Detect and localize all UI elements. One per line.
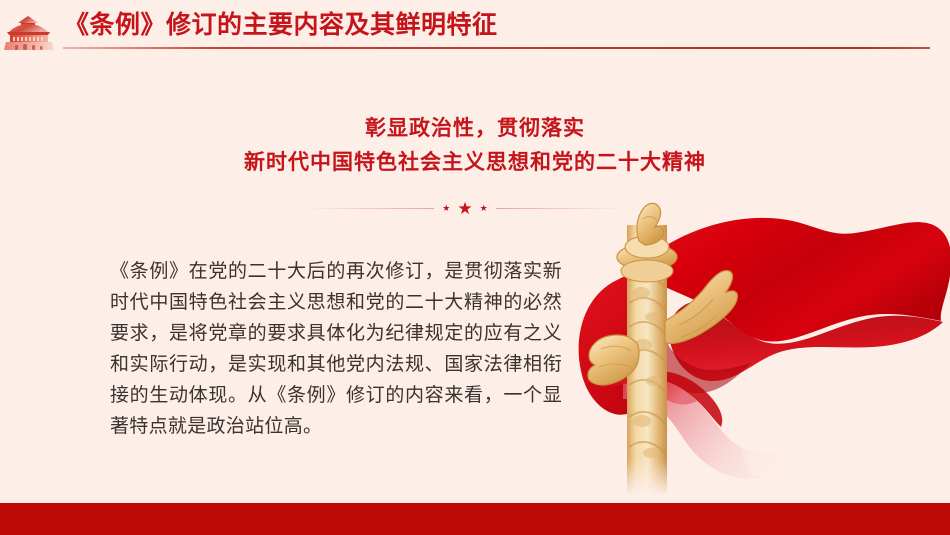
huabiao-column	[615, 225, 685, 495]
huabiao-beast	[637, 203, 664, 245]
huabiao-ring-mid	[621, 260, 673, 282]
huabiao-ring-upper	[617, 244, 677, 270]
cloud-board-left	[588, 335, 639, 385]
ribbon-notch	[741, 425, 818, 478]
star-small-right-icon: ★	[480, 204, 488, 213]
headline-block: 彰显政治性，贯彻落实 新时代中国特色社会主义思想和党的二十大精神	[0, 112, 950, 180]
headline-line-2: 新时代中国特色社会主义思想和党的二十大精神	[0, 146, 950, 180]
slide-root: 《条例》修订的主要内容及其鲜明特征 彰显政治性，贯彻落实 新时代中国特色社会主义…	[0, 0, 950, 535]
huabiao-ring-top	[625, 236, 669, 258]
flag-lower-fold	[669, 301, 943, 381]
star-small-left-icon: ★	[442, 204, 450, 213]
flag-upper-body	[635, 218, 950, 342]
slide-header: 《条例》修订的主要内容及其鲜明特征	[0, 0, 950, 58]
divider-stars: ★ ★ ★	[434, 200, 495, 217]
divider-line-left	[305, 208, 434, 209]
flag-shadow-fold	[651, 327, 751, 393]
ribbon-red-wrap-right	[651, 371, 722, 427]
header-divider-rule	[63, 47, 930, 49]
cloud-board-right	[665, 271, 737, 344]
huabiao-red-flag-illustration	[555, 185, 950, 505]
flag-left-loop	[579, 267, 705, 415]
tiananmen-icon	[2, 13, 60, 53]
body-paragraph: 《条例》在党的二十大后的再次修订，是贯彻落实新时代中国特色社会主义思想和党的二十…	[110, 256, 562, 442]
footer-bar	[0, 503, 950, 535]
page-title: 《条例》修订的主要内容及其鲜明特征	[64, 8, 498, 42]
divider-line-right	[496, 208, 625, 209]
ribbon-red-wrap-left	[595, 371, 697, 404]
headline-line-1: 彰显政治性，贯彻落实	[0, 112, 950, 146]
star-large-icon: ★	[457, 200, 472, 217]
ribbon-pink-tail	[623, 380, 817, 479]
star-divider: ★ ★ ★	[305, 198, 625, 218]
